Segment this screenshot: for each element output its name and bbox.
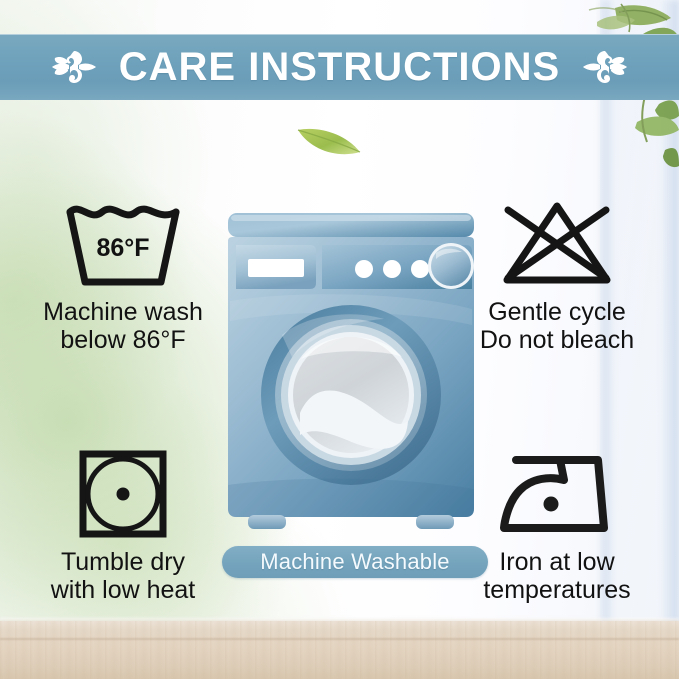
tumble-dry-low-icon [75,446,171,542]
fleur-de-lis-icon [574,45,636,89]
green-leaf-icon [292,118,368,166]
wash-tub-icon: 86°F [54,196,192,292]
table-plank-seam [0,638,679,640]
green-leaves-icon [559,0,679,210]
do-not-bleach-triangle-icon [492,196,622,292]
care-instructions-infographic: CARE INSTRUCTIONS [0,0,679,679]
page-title: CARE INSTRUCTIONS [119,47,560,87]
care-item-iron-low: Iron at low temperatures [452,446,662,604]
washer-foot [248,515,286,529]
control-button[interactable] [383,260,401,278]
banner: CARE INSTRUCTIONS [0,34,679,100]
care-item-caption: Machine wash below 86°F [43,298,203,354]
control-button[interactable] [355,260,373,278]
care-item-caption: Tumble dry with low heat [51,548,196,604]
washer-foot [416,515,454,529]
care-item-caption: Iron at low temperatures [483,548,630,604]
care-item-tumble-dry-low: Tumble dry with low heat [18,446,228,604]
wash-temperature-value: 86°F [96,234,149,262]
care-item-gentle-cycle-no-bleach: Gentle cycle Do not bleach [452,196,662,354]
control-button[interactable] [411,260,429,278]
care-item-caption: Gentle cycle Do not bleach [480,298,634,354]
care-item-machine-wash: 86°F Machine wash below 86°F [18,196,228,354]
wooden-table-top [0,621,679,679]
fleur-de-lis-icon [43,45,105,89]
iron-low-heat-icon [494,446,620,542]
front-load-washing-machine-icon [222,205,480,535]
status-badge: Machine Washable [222,546,488,578]
status-badge-label: Machine Washable [260,549,449,575]
